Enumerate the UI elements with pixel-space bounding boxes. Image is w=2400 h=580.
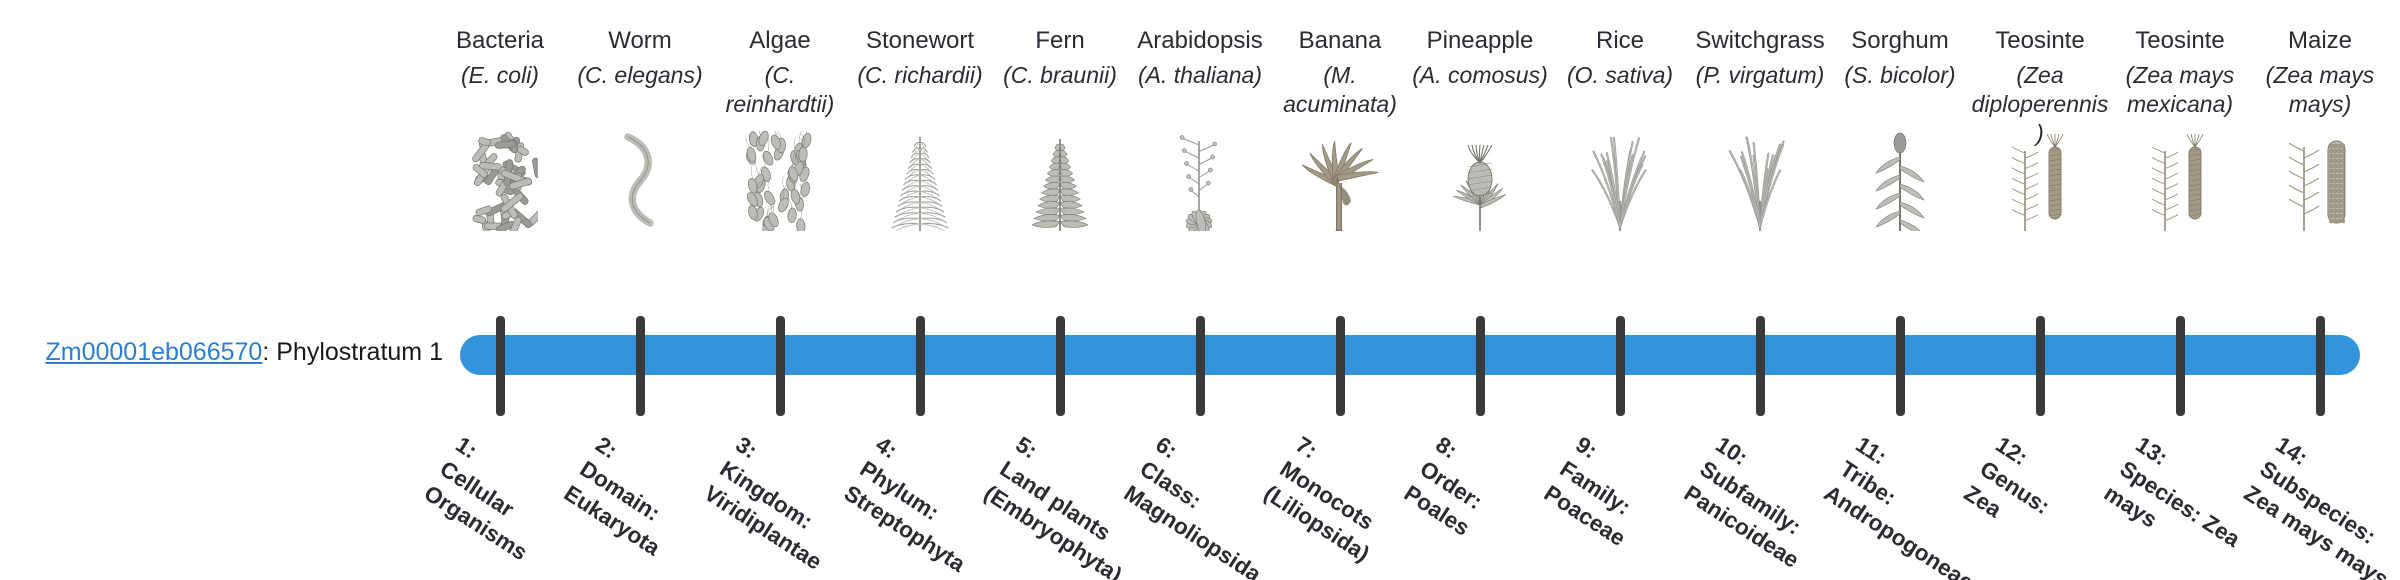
species-column-sorghum: Sorghum(S. bicolor) bbox=[1831, 26, 1969, 231]
gene-row-label: Zm00001eb066570: Phylostratum 1 bbox=[0, 334, 455, 370]
banana-illustration bbox=[1271, 126, 1409, 231]
species-column-arabidopsis: Arabidopsis(A. thaliana) bbox=[1131, 26, 1269, 231]
species-common-name: Maize bbox=[2251, 26, 2389, 58]
species-column-rice: Rice(O. sativa) bbox=[1551, 26, 1689, 231]
species-scientific-name: (Zea mays mexicana) bbox=[2111, 58, 2249, 120]
sorghum-illustration bbox=[1831, 126, 1969, 231]
phylostratum-value: Phylostratum 1 bbox=[276, 338, 443, 366]
phylostratum-tick-11[interactable] bbox=[1896, 316, 1905, 416]
species-scientific-name: (P. virgatum) bbox=[1691, 58, 1829, 120]
species-scientific-name: (C. braunii) bbox=[991, 58, 1129, 120]
phylostratum-tick-1[interactable] bbox=[496, 316, 505, 416]
species-header-track: Bacteria(E. coli)Worm(C. elegans)Algae(C… bbox=[460, 26, 2400, 316]
species-scientific-name: (Zea diploperennis) bbox=[1971, 58, 2109, 120]
bacteria-illustration bbox=[431, 126, 569, 231]
rank-label-1: 1:CellularOrganisms bbox=[419, 430, 565, 567]
teosinte-diploperennis-illustration bbox=[1971, 126, 2109, 231]
species-column-switchgrass: Switchgrass(P. virgatum) bbox=[1691, 26, 1829, 231]
species-column-teosinte: Teosinte(Zea diploperennis) bbox=[1971, 26, 2109, 231]
species-scientific-name: (C. reinhardtii) bbox=[711, 58, 849, 120]
teosinte-mexicana-illustration bbox=[2111, 126, 2249, 231]
species-scientific-name: (A. thaliana) bbox=[1131, 58, 1269, 120]
gene-id-link[interactable]: Zm00001eb066570 bbox=[45, 338, 262, 366]
species-common-name: Sorghum bbox=[1831, 26, 1969, 58]
species-column-algae: Algae(C. reinhardtii) bbox=[711, 26, 849, 231]
species-scientific-name: (C. richardii) bbox=[851, 58, 989, 120]
arabidopsis-illustration bbox=[1131, 126, 1269, 231]
species-common-name: Banana bbox=[1271, 26, 1409, 58]
worm-illustration bbox=[571, 126, 709, 231]
phylostratum-bar-layer bbox=[460, 316, 2400, 426]
pineapple-illustration bbox=[1411, 126, 1549, 231]
species-common-name: Pineapple bbox=[1411, 26, 1549, 58]
species-column-teosinte: Teosinte(Zea mays mexicana) bbox=[2111, 26, 2249, 231]
phylostratum-tick-3[interactable] bbox=[776, 316, 785, 416]
phylostratum-tick-5[interactable] bbox=[1056, 316, 1065, 416]
rank-label-2: 2:Domain:Eukaryota bbox=[559, 430, 698, 562]
rank-label-3: 3:Kingdom:Viridiplantae bbox=[699, 430, 859, 576]
species-column-maize: Maize(Zea mays mays) bbox=[2251, 26, 2389, 231]
rank-label-8: 8:Order:Poales bbox=[1399, 430, 1507, 542]
species-scientific-name: (A. comosus) bbox=[1411, 58, 1549, 120]
species-scientific-name: (M. acuminata) bbox=[1271, 58, 1409, 120]
phylostratum-tick-2[interactable] bbox=[636, 316, 645, 416]
maize-illustration bbox=[2251, 126, 2389, 231]
species-column-stonewort: Stonewort(C. richardii) bbox=[851, 26, 989, 231]
species-scientific-name: (S. bicolor) bbox=[1831, 58, 1969, 120]
phylostratum-tick-12[interactable] bbox=[2036, 316, 2045, 416]
species-common-name: Bacteria bbox=[431, 26, 569, 58]
rank-label-10: 10:Subfamily:Panicoideae bbox=[1679, 430, 1837, 574]
rank-label-9: 9:Family:Poaceae bbox=[1539, 430, 1663, 553]
phylostratum-tick-9[interactable] bbox=[1616, 316, 1625, 416]
species-column-banana: Banana(M. acuminata) bbox=[1271, 26, 1409, 231]
species-common-name: Algae bbox=[711, 26, 849, 58]
rice-illustration bbox=[1551, 126, 1689, 231]
fern-illustration bbox=[991, 126, 1129, 231]
species-column-bacteria: Bacteria(E. coli) bbox=[431, 26, 569, 231]
species-common-name: Fern bbox=[991, 26, 1129, 58]
species-common-name: Teosinte bbox=[2111, 26, 2249, 58]
rank-label-13: 13:Species: Zeamays bbox=[2099, 430, 2262, 578]
phylostratum-tick-8[interactable] bbox=[1476, 316, 1485, 416]
phylostratum-tick-6[interactable] bbox=[1196, 316, 1205, 416]
phylostratum-tick-4[interactable] bbox=[916, 316, 925, 416]
rank-labels-layer: 1:CellularOrganisms2:Domain:Eukaryota3:K… bbox=[460, 424, 2400, 580]
species-column-worm: Worm(C. elegans) bbox=[571, 26, 709, 231]
species-column-fern: Fern(C. braunii) bbox=[991, 26, 1129, 231]
species-common-name: Rice bbox=[1551, 26, 1689, 58]
species-scientific-name: (O. sativa) bbox=[1551, 58, 1689, 120]
phylostratum-separator: : bbox=[262, 338, 276, 366]
stonewort-illustration bbox=[851, 126, 989, 231]
species-common-name: Teosinte bbox=[1971, 26, 2109, 58]
algae-illustration bbox=[711, 126, 849, 231]
species-common-name: Arabidopsis bbox=[1131, 26, 1269, 58]
rank-label-4: 4:Phylum:Streptophyta bbox=[839, 430, 1003, 579]
species-column-pineapple: Pineapple(A. comosus) bbox=[1411, 26, 1549, 231]
phylostratum-tick-10[interactable] bbox=[1756, 316, 1765, 416]
species-common-name: Switchgrass bbox=[1691, 26, 1829, 58]
species-common-name: Worm bbox=[571, 26, 709, 58]
species-common-name: Stonewort bbox=[851, 26, 989, 58]
rank-label-14: 14:Subspecies:Zea mays mays bbox=[2239, 430, 2400, 580]
phylostratum-bar[interactable] bbox=[460, 335, 2360, 375]
phylostratum-tick-13[interactable] bbox=[2176, 316, 2185, 416]
species-scientific-name: (Zea mays mays) bbox=[2251, 58, 2389, 120]
phylostratum-tick-14[interactable] bbox=[2316, 316, 2325, 416]
species-scientific-name: (E. coli) bbox=[431, 58, 569, 120]
phylostratum-figure: Zm00001eb066570: Phylostratum 1 Bacteria… bbox=[0, 0, 2400, 580]
phylostratum-tick-7[interactable] bbox=[1336, 316, 1345, 416]
species-scientific-name: (C. elegans) bbox=[571, 58, 709, 120]
switchgrass-illustration bbox=[1691, 126, 1829, 231]
rank-label-7: 7:Monocots(Liliopsida) bbox=[1259, 430, 1407, 568]
